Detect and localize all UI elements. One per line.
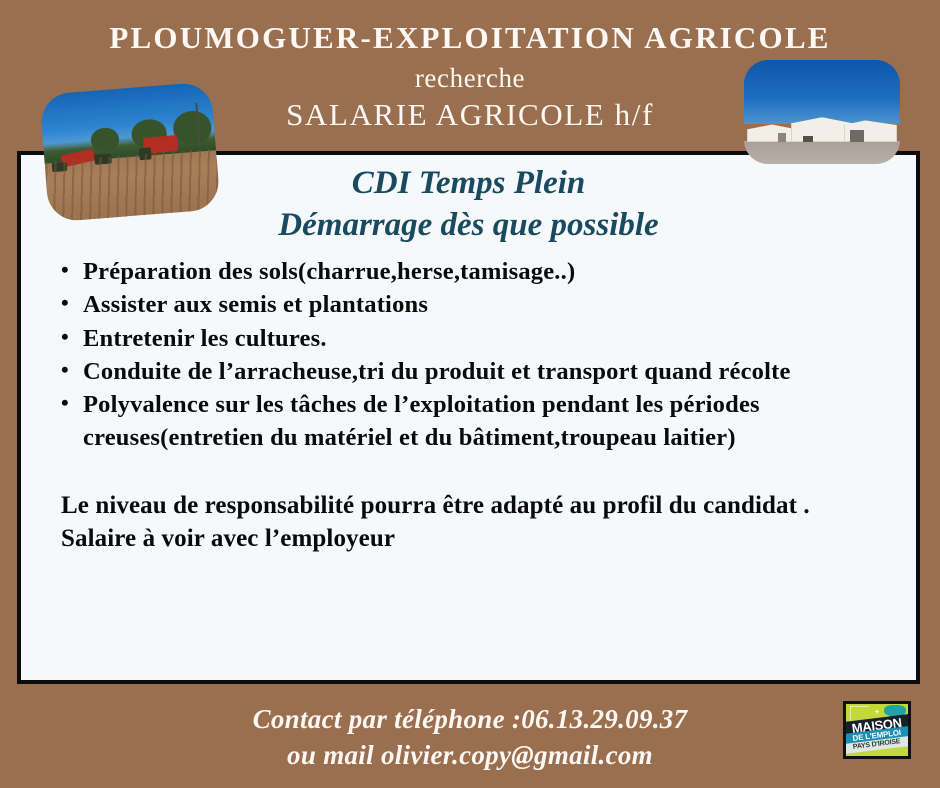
duty-item: Conduite de l’arracheuse,tri du produit … [83, 356, 892, 388]
photo-door [778, 133, 786, 142]
field-tractors-photo [39, 81, 221, 222]
logo-face: MAISON DE L'EMPLOI PAYS D'IROISE [846, 704, 908, 756]
duty-item: Préparation des sols(charrue,herse,tamis… [83, 256, 892, 288]
content-panel: CDI Temps Plein Démarrage dès que possib… [17, 151, 920, 684]
duty-item: Entretenir les cultures. [83, 323, 892, 355]
poster-footer: Contact par téléphone :06.13.29.09.37 ou… [0, 690, 940, 788]
photo-yard [744, 141, 900, 164]
photo-door [850, 130, 864, 142]
farm-building-photo [744, 60, 900, 164]
organization-name: PLOUMOGUER-EXPLOITATION AGRICOLE [0, 0, 940, 55]
maison-emploi-logo: MAISON DE L'EMPLOI PAYS D'IROISE [843, 701, 911, 759]
sparkle-icon [875, 709, 880, 714]
responsibility-note: Le niveau de responsabilité pourra être … [61, 492, 810, 519]
job-offer-poster: PLOUMOGUER-EXPLOITATION AGRICOLE recherc… [0, 0, 940, 788]
contact-phone: Contact par téléphone :06.13.29.09.37 [0, 690, 940, 738]
salary-note: Salaire à voir avec l’employeur [61, 525, 395, 552]
contact-email: ou mail olivier.copy@gmail.com [0, 738, 940, 774]
photo-crate [803, 136, 812, 142]
duties-list: Préparation des sols(charrue,herse,tamis… [21, 256, 916, 454]
closing-note: Le niveau de responsabilité pourra être … [21, 455, 916, 556]
photo-sky [744, 60, 900, 124]
duty-item: Assister aux semis et plantations [83, 289, 892, 321]
photo-shed [747, 124, 797, 142]
duty-item: Polyvalence sur les tâches de l’exploita… [83, 389, 892, 454]
